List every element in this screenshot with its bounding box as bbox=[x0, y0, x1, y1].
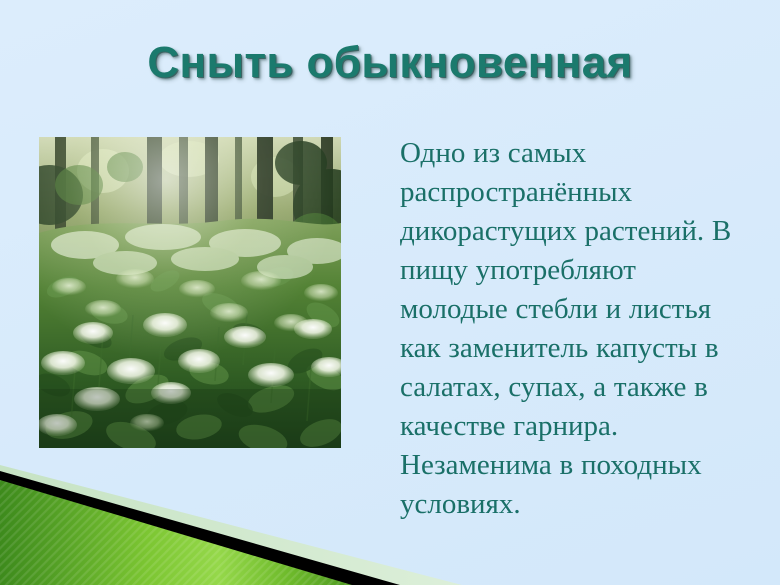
presentation-slide: Сныть обыкновенная bbox=[0, 0, 780, 585]
title-container: Сныть обыкновенная bbox=[0, 36, 780, 90]
photo-ground-elder-forest bbox=[39, 137, 341, 448]
body-paragraph: Одно из самых распространённых дикорасту… bbox=[400, 134, 748, 524]
photo-illustration bbox=[39, 137, 341, 448]
slide-title: Сныть обыкновенная bbox=[147, 36, 632, 90]
body-text-container: Одно из самых распространённых дикорасту… bbox=[400, 134, 748, 524]
